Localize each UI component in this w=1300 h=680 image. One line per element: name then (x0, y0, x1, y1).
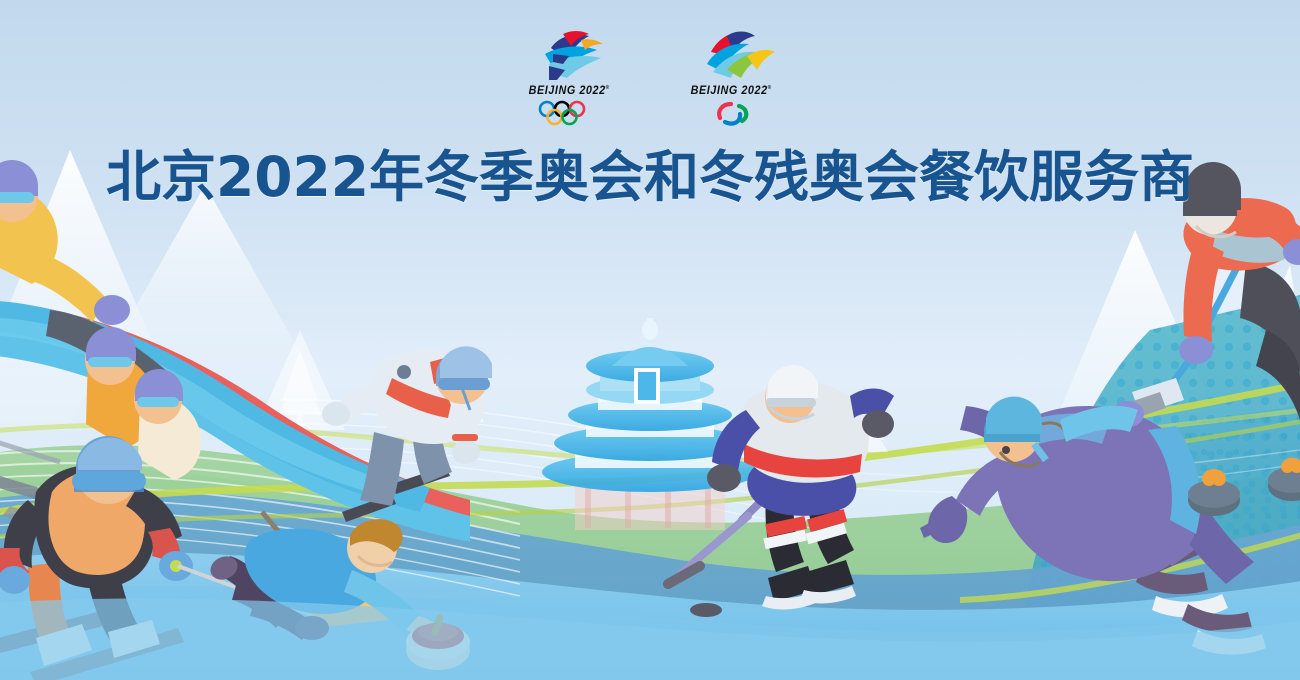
logo-row: BEIJING 2022® BEIJING 2022® (0, 30, 1300, 126)
paralympic-wordmark: BEIJING 2022® (690, 85, 771, 97)
page-title: 北京2022年冬季奥会和冬残奥会餐饮服务商 (0, 146, 1300, 208)
olympic-banner: BEIJING 2022® BEIJING 2022® (0, 0, 1300, 680)
agitos-icon (695, 100, 767, 126)
olympic-logo: BEIJING 2022® (513, 30, 625, 126)
paralympic-logo: BEIJING 2022® (675, 30, 787, 126)
olympic-wordmark: BEIJING 2022® (528, 85, 609, 97)
olympic-rings-icon (533, 100, 605, 126)
paralympic-emblem-icon (681, 30, 781, 82)
olympic-emblem-icon (519, 30, 619, 82)
